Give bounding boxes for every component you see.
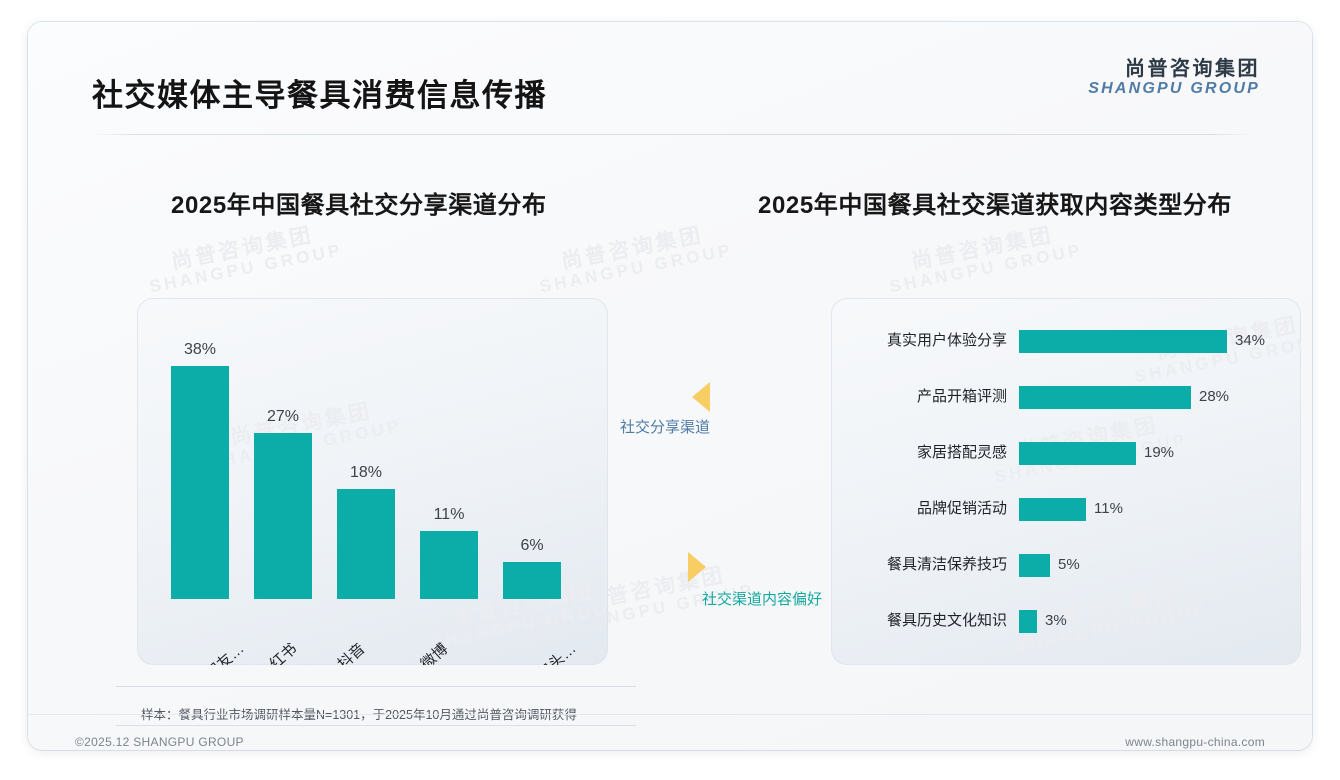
logo-english-text: SHANGPU GROUP bbox=[1088, 80, 1260, 98]
bar bbox=[1019, 386, 1191, 409]
bar-column: 11% bbox=[420, 531, 478, 599]
footer-divider bbox=[28, 714, 1312, 715]
bar bbox=[1019, 610, 1037, 633]
bar-category-label: 餐具历史文化知识 bbox=[831, 604, 1007, 638]
bar-row: 真实用户体验分享34% bbox=[831, 324, 1301, 358]
bar-value-label: 3% bbox=[1045, 604, 1067, 638]
bar-value-label: 5% bbox=[1058, 548, 1080, 582]
bar-value-label: 28% bbox=[1199, 380, 1229, 414]
bar bbox=[420, 531, 478, 599]
bar-category-label: 产品开箱评测 bbox=[831, 380, 1007, 414]
bar-value-label: 38% bbox=[153, 341, 247, 359]
bar bbox=[1019, 442, 1136, 465]
bar bbox=[337, 489, 395, 599]
bar bbox=[1019, 330, 1227, 353]
bar-row: 餐具清洁保养技巧5% bbox=[831, 548, 1301, 582]
bar-value-label: 11% bbox=[402, 506, 496, 524]
logo-chinese-text: 尚普咨询集团 bbox=[1088, 58, 1260, 80]
right-chart-panel: 尚普咨询集团 SHANGPU GROUP 尚普咨询集团 SHANGPU GROU… bbox=[831, 298, 1301, 665]
bar-category-label: 抖音 bbox=[333, 638, 369, 665]
header-divider bbox=[92, 134, 1252, 135]
slide-header: 社交媒体主导餐具消费信息传播 尚普咨询集团 SHANGPU GROUP bbox=[28, 22, 1312, 118]
footnote-divider-top bbox=[116, 686, 636, 687]
bar-value-label: 6% bbox=[485, 537, 579, 555]
bar-category-label: 品牌促销活动 bbox=[831, 492, 1007, 526]
bar-category-label: 小红书 bbox=[254, 638, 302, 665]
watermark: 尚普咨询集团 SHANGPU GROUP bbox=[144, 220, 344, 297]
bar-column: 18% bbox=[337, 489, 395, 599]
bar-category-label: 线下口头… bbox=[510, 638, 580, 665]
footer-copyright: ©2025.12 SHANGPU GROUP bbox=[75, 735, 244, 749]
triangle-left-icon bbox=[692, 382, 710, 412]
bar-value-label: 19% bbox=[1144, 436, 1174, 470]
bar bbox=[171, 366, 229, 599]
bar bbox=[1019, 498, 1086, 521]
vertical-bar-chart: 38%微信朋友…27%小红书18%抖音11%微博6%线下口头… bbox=[137, 298, 608, 665]
bar bbox=[254, 433, 312, 599]
bar-value-label: 18% bbox=[319, 464, 413, 482]
annotation-left-label: 社交分享渠道 bbox=[620, 416, 710, 437]
bar-value-label: 34% bbox=[1235, 324, 1265, 358]
bar-value-label: 27% bbox=[236, 408, 330, 426]
bar-category-label: 真实用户体验分享 bbox=[831, 324, 1007, 358]
watermark: 尚普咨询集团 SHANGPU GROUP bbox=[534, 220, 734, 297]
right-chart-title: 2025年中国餐具社交渠道获取内容类型分布 bbox=[758, 185, 1232, 220]
footnote-divider bbox=[116, 725, 636, 726]
bar-column: 38% bbox=[171, 366, 229, 599]
brand-logo: 尚普咨询集团 SHANGPU GROUP bbox=[1088, 58, 1260, 98]
bar-column: 6% bbox=[503, 562, 561, 599]
page-title: 社交媒体主导餐具消费信息传播 bbox=[92, 70, 547, 115]
bar-column: 27% bbox=[254, 433, 312, 599]
watermark: 尚普咨询集团 SHANGPU GROUP bbox=[884, 220, 1084, 297]
bar-category-label: 家居搭配灵感 bbox=[831, 436, 1007, 470]
bar-category-label: 微信朋友… bbox=[178, 638, 248, 665]
left-chart-panel: 尚普咨询集团 SHANGPU GROUP 尚普咨询集团 SHANGPU GROU… bbox=[137, 298, 608, 665]
bar bbox=[503, 562, 561, 599]
footer-website: www.shangpu-china.com bbox=[1125, 735, 1265, 749]
left-chart-title: 2025年中国餐具社交分享渠道分布 bbox=[171, 185, 547, 220]
triangle-right-icon bbox=[688, 552, 706, 582]
bar-row: 产品开箱评测28% bbox=[831, 380, 1301, 414]
slide-canvas: 社交媒体主导餐具消费信息传播 尚普咨询集团 SHANGPU GROUP 2025… bbox=[28, 22, 1312, 750]
bar-category-label: 餐具清洁保养技巧 bbox=[831, 548, 1007, 582]
bar-row: 品牌促销活动11% bbox=[831, 492, 1301, 526]
bar-row: 餐具历史文化知识3% bbox=[831, 604, 1301, 638]
bar-category-label: 微博 bbox=[416, 638, 452, 665]
horizontal-bar-chart: 真实用户体验分享34%产品开箱评测28%家居搭配灵感19%品牌促销活动11%餐具… bbox=[831, 298, 1301, 665]
bar bbox=[1019, 554, 1050, 577]
annotation-right-label: 社交渠道内容偏好 bbox=[702, 588, 822, 609]
bar-value-label: 11% bbox=[1094, 492, 1123, 526]
bar-row: 家居搭配灵感19% bbox=[831, 436, 1301, 470]
